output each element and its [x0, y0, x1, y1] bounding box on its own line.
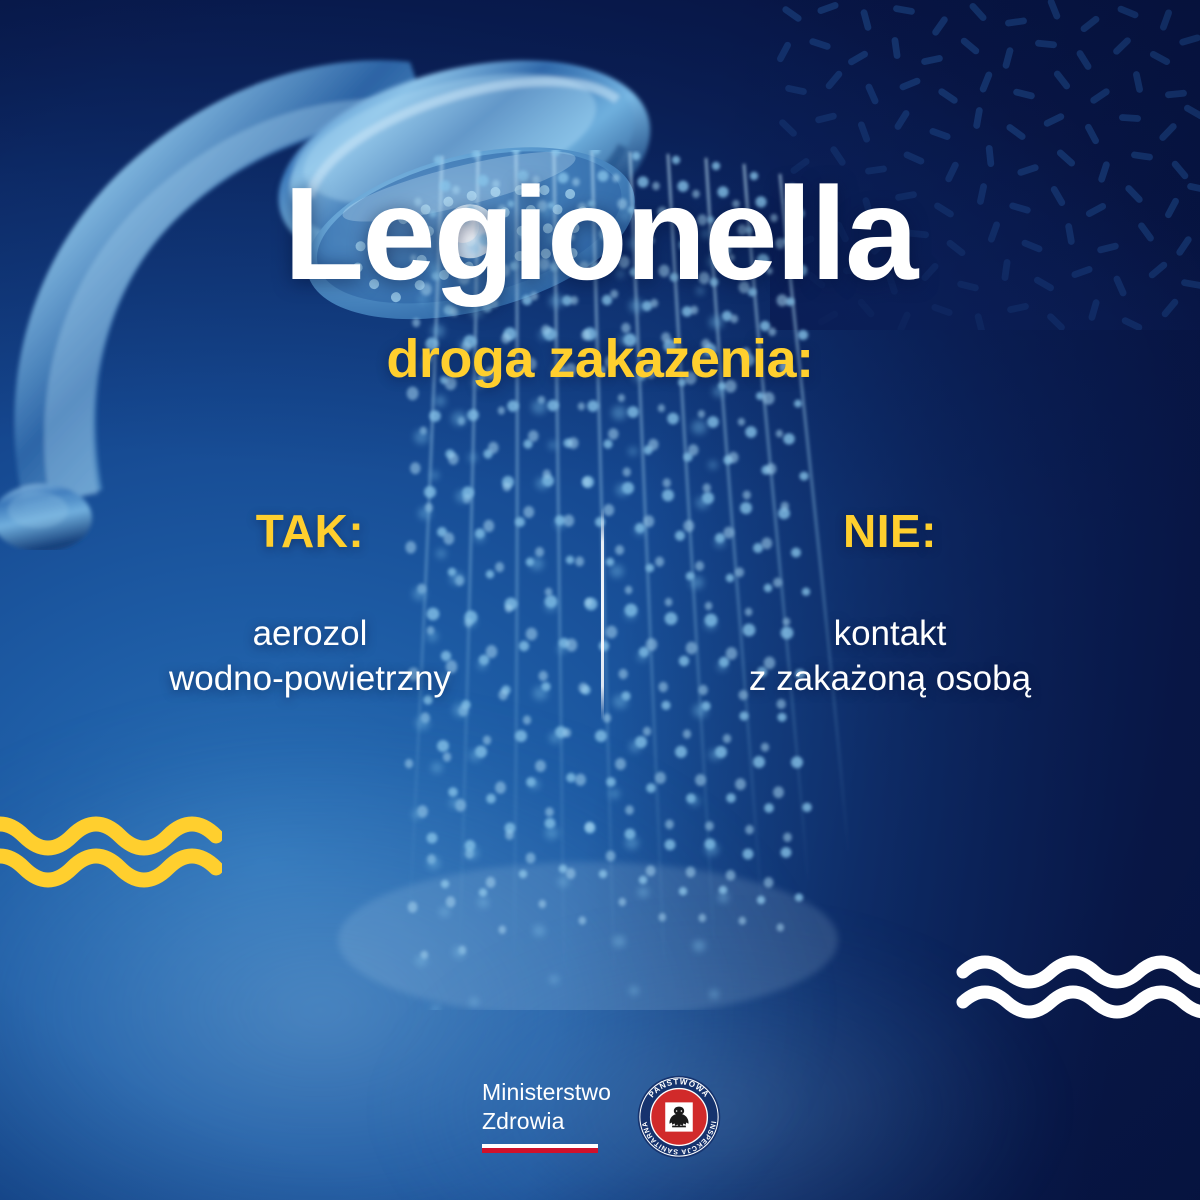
ministry-logo: Ministerstwo Zdrowia	[482, 1078, 611, 1153]
column-no-body: kontakt z zakażoną osobą	[660, 612, 1120, 702]
flag-bar-red	[482, 1148, 598, 1153]
column-yes-line-1: aerozol	[80, 612, 540, 657]
transmission-columns: TAK: aerozol wodno-powietrzny NIE: konta…	[0, 508, 1200, 738]
column-yes-body: aerozol wodno-powietrzny	[80, 612, 540, 702]
polish-flag-bar	[482, 1144, 598, 1153]
column-no-line-1: kontakt	[660, 612, 1120, 657]
vertical-divider-icon	[601, 508, 604, 720]
water-wave-icon-left	[0, 806, 222, 896]
column-no: NIE: kontakt z zakażoną osobą	[660, 508, 1120, 702]
water-wave-icon-right	[955, 948, 1200, 1028]
ministry-line-2: Zdrowia	[482, 1107, 611, 1136]
ministry-line-1: Ministerstwo	[482, 1078, 611, 1107]
page-title: Legionella	[0, 168, 1200, 300]
column-yes-heading: TAK:	[80, 508, 540, 554]
sanitary-inspection-seal: PAŃSTWOWA INSPEKCJA SANITARNA	[636, 1074, 722, 1160]
column-no-heading: NIE:	[660, 508, 1120, 554]
legionella-poster: Legionella droga zakażenia: TAK: aerozol…	[0, 0, 1200, 1200]
column-yes: TAK: aerozol wodno-powietrzny	[80, 508, 540, 702]
page-subtitle: droga zakażenia:	[0, 332, 1200, 386]
column-no-line-2: z zakażoną osobą	[660, 657, 1120, 702]
footer: Ministerstwo Zdrowia	[0, 1070, 1200, 1170]
column-yes-line-2: wodno-powietrzny	[80, 657, 540, 702]
